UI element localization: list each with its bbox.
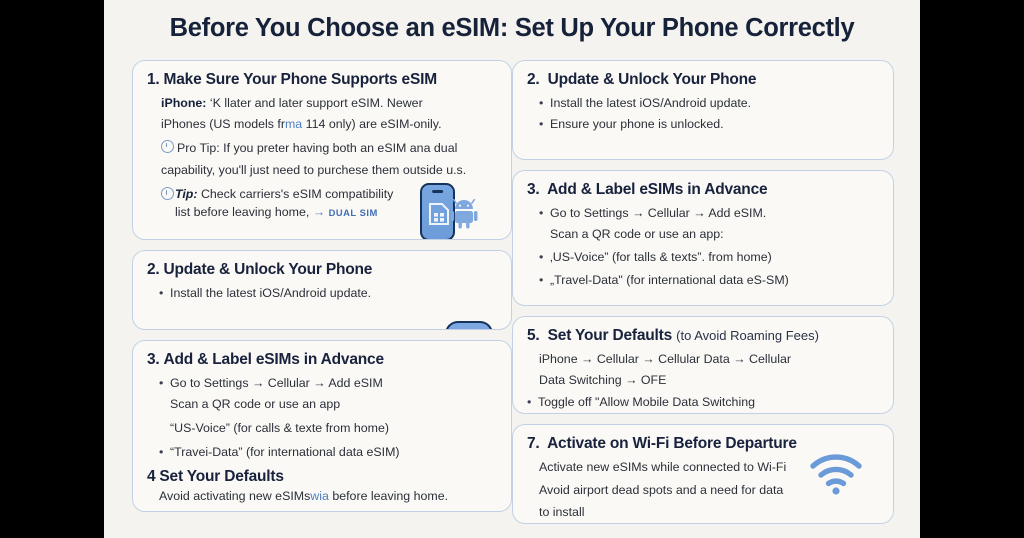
sim-card-icon [428,202,450,226]
letterbox-bar-right [920,0,1024,538]
arrow-icon: → [313,205,325,219]
left-column: 1.Make Sure Your Phone Supports eSIM iPh… [132,60,512,522]
card-body: • Go to Settings → Cellular → Add eSIM S… [147,375,444,461]
list-item: • „Travel-Data" (for international data … [539,272,819,290]
card-update-unlock-left[interactable]: 2.Update & Unlock Your Phone • Install t… [132,250,512,330]
phone-sim-android-art [420,183,455,240]
list-item: • Go to Settings → Cellular → Add eSIM. [539,205,819,223]
card-supports-esim[interactable]: 1.Make Sure Your Phone Supports eSIM iPh… [132,60,512,240]
list-item: • “Travei-Data” (for international data … [159,444,444,462]
wifi-signal-art [809,453,863,500]
sub-text-a: Avoid activating new eSIMs [159,489,310,503]
bullet-icon: • [539,249,550,267]
protip-line-1: Pro Tip: If you preter having both an eS… [161,139,501,158]
card-number: 7. [527,435,540,452]
iphone-text: ‘K llater and later support eSIM. Newer [210,96,423,110]
bullet-icon: • [539,272,550,290]
bullet-text: Ensure your phone is unlocked. [550,116,829,134]
card-title: 5. Set Your Defaults (to Avoid Roaming F… [527,327,879,345]
card-body: • Go to Settings → Cellular → Add eSIM. … [527,205,819,289]
card-add-label-esims-right[interactable]: 3. Add & Label eSIMs in Advance • Go to … [512,170,894,306]
sub-text-b: before leaving home. [329,489,448,503]
plain-line-2: Data Switching → OFE [539,372,814,390]
card-heading: Activate on Wi-Fi Before Departure [547,435,797,452]
protip-line-2: capability, you'll just need to purchese… [161,162,501,180]
card-body: iPhone → Cellular → Cellular Data → Cell… [527,351,814,412]
card-add-label-esims-left[interactable]: 3.Add & Label eSIMs in Advance • Go to S… [132,340,512,512]
sub-line-1: Scan a QR code or use an app [159,396,444,414]
plain-line-3: to install [539,504,829,522]
iphone-line-1: iPhone: ‘K llater and later support eSIM… [161,95,501,113]
card-body: • Install the latest iOS/Android update.… [527,95,829,134]
list-item: • Install the latest iOS/Android update. [539,95,829,113]
info-circle-icon [161,140,174,153]
protip-text: Pro Tip: If you preter having both an eS… [177,141,457,155]
infographic-poster: Before You Choose an eSIM: Set Up Your P… [104,0,920,538]
bullet-text: “Travei-Data” (for international data eS… [170,444,444,462]
plain-line-1: Activate new eSIMs while connected to Wi… [539,459,829,477]
sub-card-number: 4 [147,468,155,485]
card-heading: Add & Label eSIMs in Advance [547,181,767,198]
bullet-text: Install the latest iOS/Android update. [170,285,449,303]
sub-card-body: Avoid activating new eSIMswia before lea… [147,488,497,506]
list-item: • Go to Settings → Cellular → Add eSIM [159,375,444,393]
iphone-text-blue: ma [285,117,302,131]
card-number: 1. [147,71,160,88]
status-badge: DUAL SIM [329,207,378,218]
iphone-text-a: iPhones (US models fr [161,117,285,131]
sub-card-text: Avoid activating new eSIMswia before lea… [159,488,497,506]
card-heading: Add & Label eSIMs in Advance [164,351,384,368]
card-title: 1.Make Sure Your Phone Supports eSIM [147,71,497,89]
card-set-defaults[interactable]: 5. Set Your Defaults (to Avoid Roaming F… [512,316,894,414]
tip-text: Check carriers's eSIM compatibility [201,187,393,201]
sub-line-2: “US-Voice” (for calls & texte from home) [159,420,444,438]
card-title: 3.Add & Label eSIMs in Advance [147,351,497,369]
iphone-label: iPhone: [161,96,206,110]
plain-line-1: iPhone → Cellular → Cellular Data → Cell… [539,351,814,369]
sub-text-blue: wia [310,489,329,503]
bullet-text: „Travel-Data" (for international data eS… [550,272,819,290]
tip-text-2: list before leaving home, [175,205,309,219]
wifi-icon [809,453,863,495]
card-heading: Set Your Defaults [548,327,672,344]
bullet-text: ‚US-Voice” (for talls & texts”. from hom… [550,249,819,267]
bullet-text: Go to Settings → Cellular → Add eSIM. [550,205,819,223]
list-item: • ‚US-Voice” (for talls & texts”. from h… [539,249,819,267]
card-title: 7. Activate on Wi-Fi Before Departure [527,435,879,453]
card-heading: Update & Unlock Your Phone [548,71,757,88]
page-title: Before You Choose an eSIM: Set Up Your P… [104,14,920,43]
bullet-text: Go to Settings → Cellular → Add eSIM [170,375,444,393]
bullet-icon: • [527,394,538,412]
card-title: 2.Update & Unlock Your Phone [147,261,497,279]
bullet-icon: • [539,95,550,113]
bullet-icon: • [539,205,550,223]
card-number: 3. [147,351,160,368]
card-number: 2. [147,261,160,278]
tip-label: Tip: [175,187,197,201]
bullet-icon: • [159,285,170,303]
bullet-icon: • [159,375,170,393]
bullet-icon: • [539,116,550,134]
sim-card-badge-art [445,321,493,330]
card-number: 5. [527,327,540,344]
card-title: 3. Add & Label eSIMs in Advance [527,181,879,199]
bullet-text: Toggle off "Allow Mobile Data Switching [538,394,814,412]
card-update-unlock-right[interactable]: 2. Update & Unlock Your Phone • Install … [512,60,894,160]
sub-card-heading: Set Your Defaults [159,468,283,485]
card-heading: Update & Unlock Your Phone [164,261,373,278]
iphone-line-2: iPhones (US models frma 114 only) are eS… [161,116,501,134]
list-item: • Toggle off "Allow Mobile Data Switchin… [527,394,814,412]
android-robot-icon [450,199,478,229]
list-item: • Install the latest iOS/Android update. [159,285,449,303]
card-title: 2. Update & Unlock Your Phone [527,71,879,89]
plain-line-2: Avoid airport dead spots and a need for … [539,482,829,500]
info-circle-icon [161,186,175,205]
sub-line-1: Scan a QR code or use an app: [539,226,819,244]
letterbox-bar-left [0,0,104,538]
card-activate-wifi[interactable]: 7. Activate on Wi-Fi Before Departure Ac… [512,424,894,524]
right-column: 2. Update & Unlock Your Phone • Install … [512,60,894,534]
bullet-text: Install the latest iOS/Android update. [550,95,829,113]
card-body: Activate new eSIMs while connected to Wi… [527,459,829,522]
iphone-text-b: 114 only) are eSIM-onily. [302,117,441,131]
sub-card-title: 4Set Your Defaults [147,468,497,486]
card-heading: Make Sure Your Phone Supports eSIM [164,71,437,88]
card-subheading: (to Avoid Roaming Fees) [676,328,819,343]
card-body: • Install the latest iOS/Android update. [147,285,449,303]
card-number: 2. [527,71,540,88]
bullet-icon: • [159,444,170,462]
list-item: • Ensure your phone is unlocked. [539,116,829,134]
card-number: 3. [527,181,540,198]
